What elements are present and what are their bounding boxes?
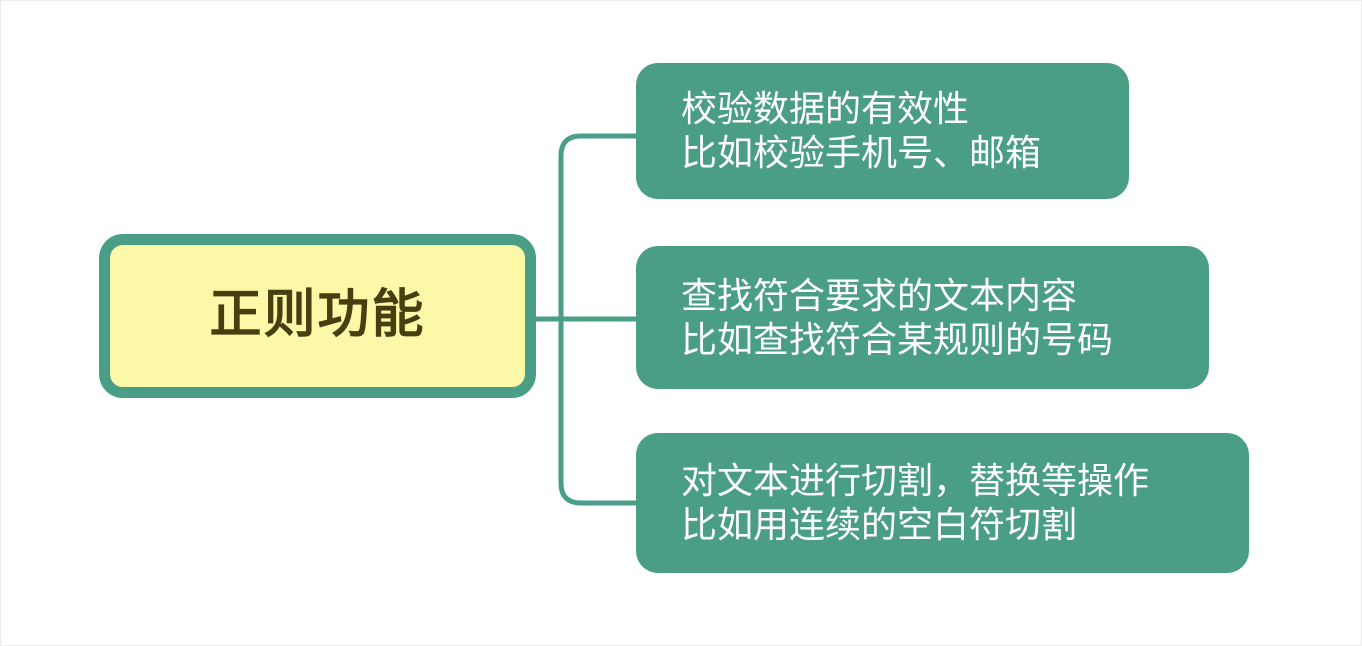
branch-node-split-replace-line-2: 比如用连续的空白符切割	[681, 503, 1249, 547]
mindmap-canvas: 正则功能 校验数据的有效性 比如校验手机号、邮箱 查找符合要求的文本内容 比如查…	[0, 0, 1362, 646]
branch-node-validate-line-1: 校验数据的有效性	[681, 87, 1129, 131]
branch-node-search-line-2: 比如查找符合某规则的号码	[681, 318, 1209, 362]
root-node[interactable]: 正则功能	[99, 234, 536, 398]
connector-branch-1	[561, 136, 636, 319]
root-node-label: 正则功能	[209, 287, 425, 344]
branch-node-validate-line-2: 比如校验手机号、邮箱	[681, 131, 1129, 175]
branch-node-search[interactable]: 查找符合要求的文本内容 比如查找符合某规则的号码	[636, 246, 1209, 389]
branch-node-split-replace[interactable]: 对文本进行切割，替换等操作 比如用连续的空白符切割	[636, 433, 1249, 573]
branch-node-validate[interactable]: 校验数据的有效性 比如校验手机号、邮箱	[636, 63, 1129, 199]
branch-node-split-replace-line-1: 对文本进行切割，替换等操作	[681, 459, 1249, 503]
branch-node-search-line-1: 查找符合要求的文本内容	[681, 274, 1209, 318]
connector-branch-3	[561, 319, 636, 503]
